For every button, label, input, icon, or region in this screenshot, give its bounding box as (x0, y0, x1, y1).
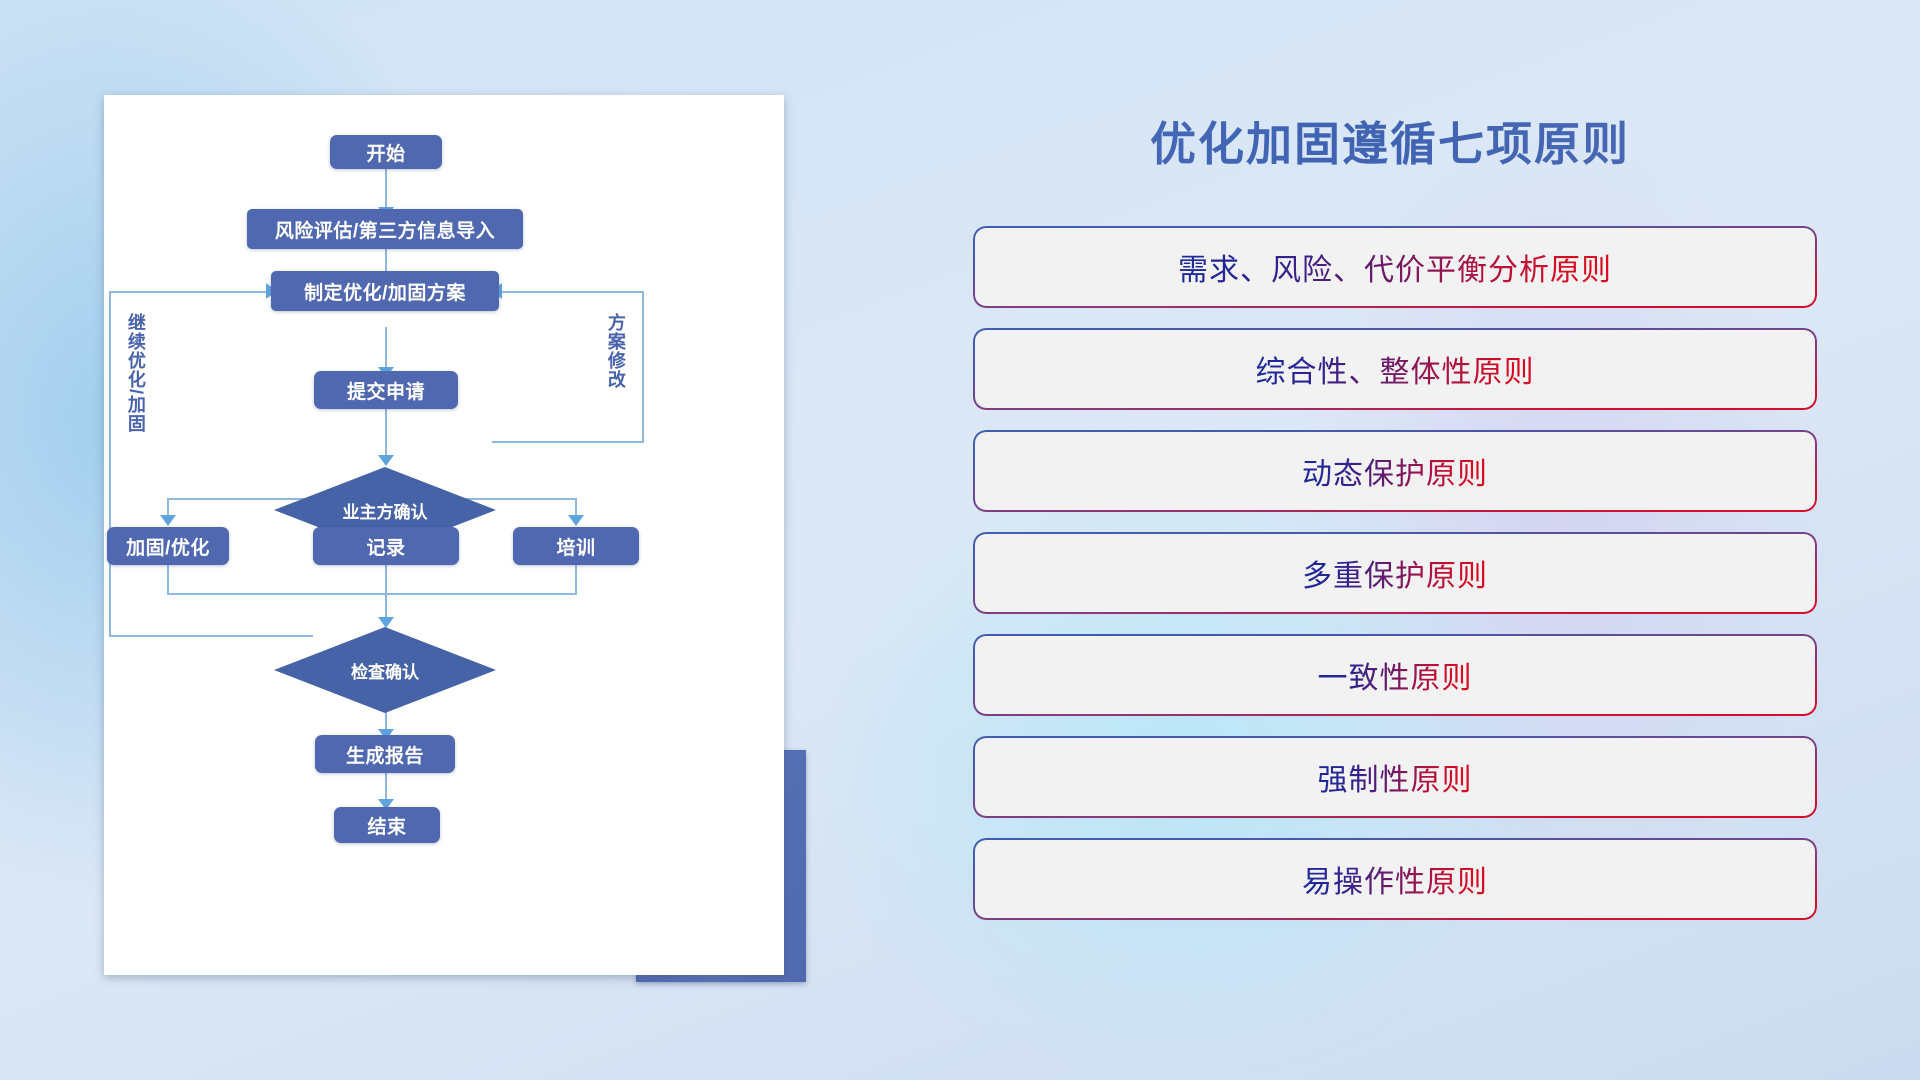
principle-label: 易操作性原则 (1302, 857, 1488, 901)
flowchart-panel: 继续优化/加固 方案修改 开始 风险评估/第三方信息导入 (0, 0, 860, 1080)
left-loop-label: 继续优化/加固 (126, 313, 145, 433)
connector-record-to-check (385, 565, 387, 625)
principle-card[interactable]: 一致性原则 (975, 636, 1815, 714)
flow-node-report[interactable]: 生成报告 (315, 735, 455, 773)
flowchart-card: 继续优化/加固 方案修改 开始 风险评估/第三方信息导入 (104, 95, 784, 975)
principle-card[interactable]: 需求、风险、代价平衡分析原则 (975, 228, 1815, 306)
flow-decision-check-confirm-label: 检查确认 (351, 658, 419, 683)
principle-label: 强制性原则 (1318, 755, 1473, 799)
connector-right-loop-bottom (492, 441, 644, 443)
right-loop-label: 方案修改 (606, 313, 625, 389)
flow-node-report-label: 生成报告 (346, 741, 424, 768)
principle-label: 需求、风险、代价平衡分析原则 (1178, 245, 1612, 289)
principle-card[interactable]: 动态保护原则 (975, 432, 1815, 510)
flow-node-plan[interactable]: 制定优化/加固方案 (271, 271, 499, 311)
principle-card[interactable]: 综合性、整体性原则 (975, 330, 1815, 408)
principles-list: 需求、风险、代价平衡分析原则 综合性、整体性原则 动态保护原则 多重保护原则 一… (975, 228, 1815, 942)
principle-label: 多重保护原则 (1302, 551, 1488, 595)
flow-node-start[interactable]: 开始 (330, 135, 442, 169)
connector-train-down (575, 565, 577, 595)
flow-node-submit[interactable]: 提交申请 (314, 371, 458, 409)
flow-node-plan-label: 制定优化/加固方案 (304, 278, 466, 305)
arrow-submit-to-owner (378, 455, 394, 466)
connector-right-loop-top (500, 291, 644, 293)
flow-decision-check-confirm[interactable]: 检查确认 (274, 627, 496, 713)
flow-node-training-label: 培训 (556, 533, 595, 560)
principle-label: 动态保护原则 (1302, 449, 1488, 493)
principle-card[interactable]: 易操作性原则 (975, 840, 1815, 918)
flow-node-submit-label: 提交申请 (347, 377, 425, 404)
flow-node-reinforce[interactable]: 加固/优化 (107, 527, 229, 565)
flow-node-risk-assessment[interactable]: 风险评估/第三方信息导入 (247, 209, 523, 249)
connector-left-loop-vertical (109, 291, 111, 637)
principle-label: 一致性原则 (1318, 653, 1473, 697)
principle-card[interactable]: 多重保护原则 (975, 534, 1815, 612)
arrow-to-train (568, 515, 584, 526)
flow-node-reinforce-label: 加固/优化 (126, 533, 210, 560)
principles-panel: 优化加固遵循七项原则 需求、风险、代价平衡分析原则 综合性、整体性原则 动态保护… (860, 0, 1920, 1080)
connector-left-loop-top (109, 291, 269, 293)
principle-card[interactable]: 强制性原则 (975, 738, 1815, 816)
connector-reinforce-down (167, 565, 169, 595)
arrow-to-reinforce (160, 515, 176, 526)
flow-node-start-label: 开始 (366, 139, 405, 166)
flow-node-end[interactable]: 结束 (334, 807, 440, 843)
flow-decision-owner-confirm-label: 业主方确认 (343, 498, 428, 523)
connector-merge-bus (167, 593, 577, 595)
flow-node-end-label: 结束 (367, 812, 406, 839)
flow-node-record-label: 记录 (366, 533, 405, 560)
principles-title: 优化加固遵循七项原则 (860, 108, 1920, 174)
flow-node-training[interactable]: 培训 (513, 527, 639, 565)
flow-node-record[interactable]: 记录 (313, 527, 459, 565)
principle-label: 综合性、整体性原则 (1256, 347, 1535, 391)
connector-right-loop-vertical (642, 291, 644, 443)
flow-node-risk-assessment-label: 风险评估/第三方信息导入 (275, 216, 495, 243)
